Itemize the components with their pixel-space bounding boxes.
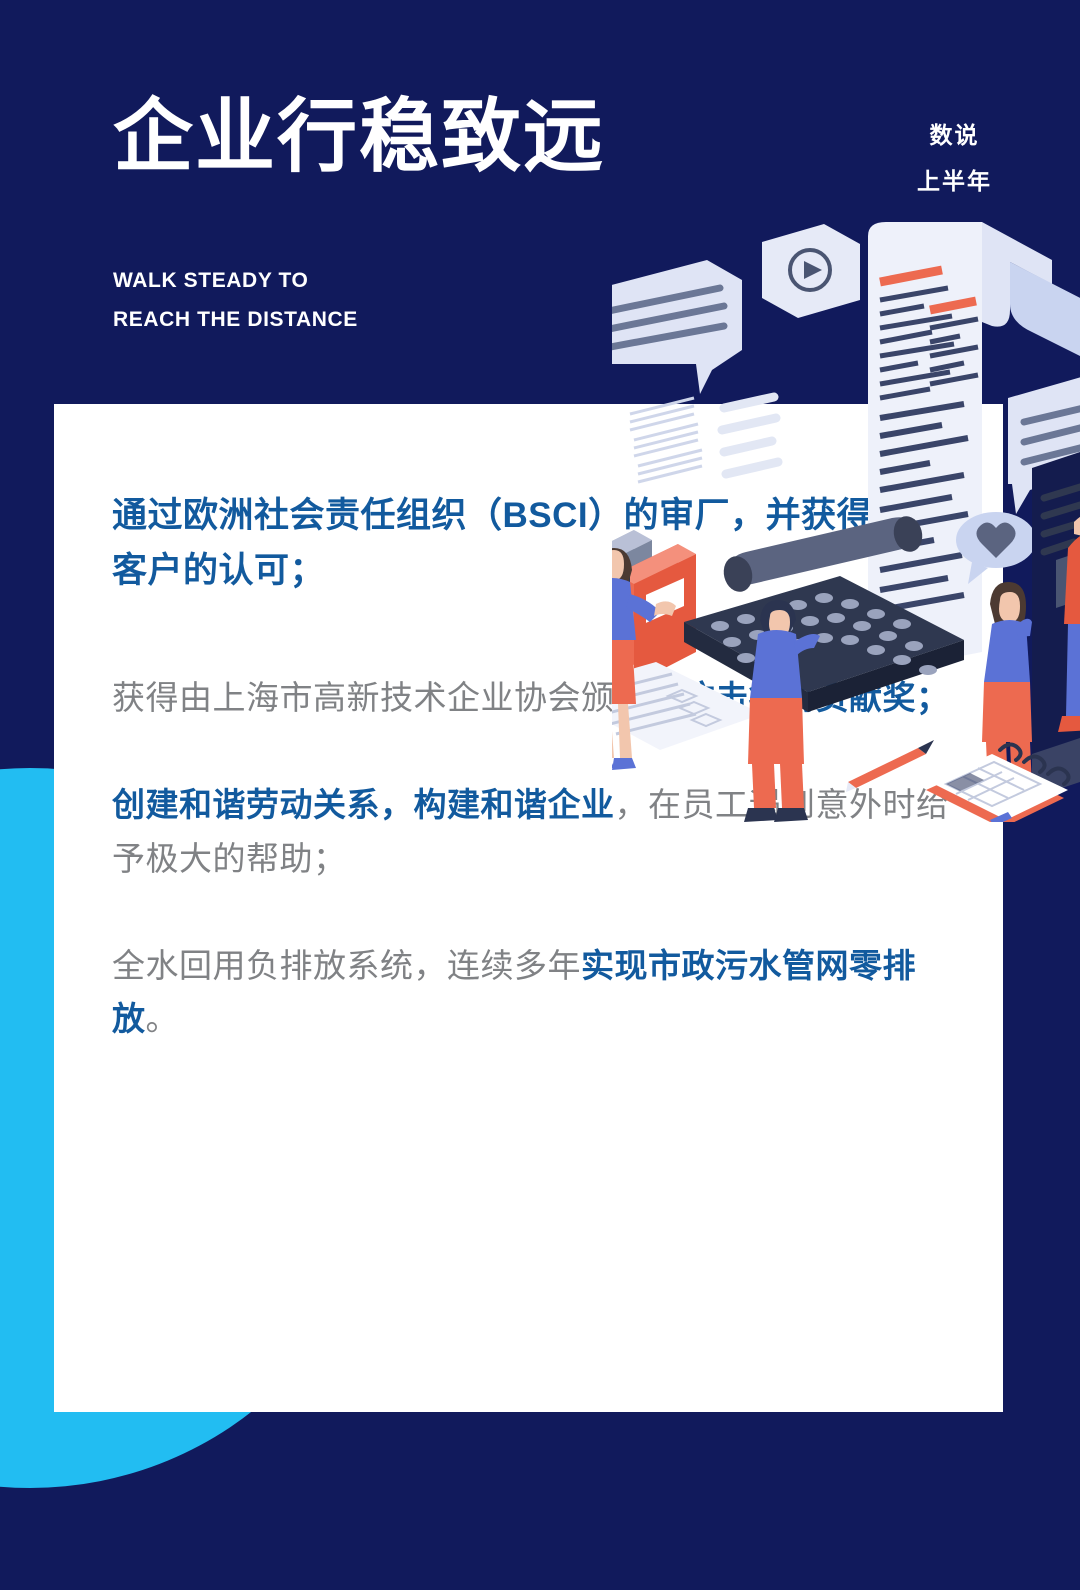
paragraph-harmony: 创建和谐劳动关系，构建和谐企业，在员工遇到意外时给予极大的帮助；: [112, 778, 972, 885]
paragraph-bsci: 通过欧洲社会责任组织（BSCI）的审厂，并获得欧洲客户的认可；: [112, 488, 972, 599]
subtitle-line-1: WALK STEADY TO: [113, 262, 358, 301]
text-segment: 创建和谐劳动关系，构建和谐企业: [112, 786, 615, 823]
subtitle-line-2: REACH THE DISTANCE: [113, 301, 358, 340]
page-title: 企业行稳致远: [113, 97, 605, 177]
person-man-panel: [1058, 514, 1080, 732]
paragraph-water: 全水回用负排放系统，连续多年实现市政污水管网零排放。: [112, 939, 972, 1046]
corner-series-tag: 数说 上半年: [917, 112, 992, 204]
text-segment: 。: [146, 1000, 180, 1037]
paragraph-award: 获得由上海市高新技术企业协会颁发的抗击疫情贡献奖；: [112, 671, 972, 724]
page-subtitle: WALK STEADY TO REACH THE DISTANCE: [113, 262, 358, 340]
corner-tag-line-2: 上半年: [917, 158, 992, 204]
achievement-list: 通过欧洲社会责任组织（BSCI）的审厂，并获得欧洲客户的认可； 获得由上海市高新…: [112, 488, 972, 1046]
content-card: 通过欧洲社会责任组织（BSCI）的审厂，并获得欧洲客户的认可； 获得由上海市高新…: [54, 404, 1003, 1412]
corner-tag-line-1: 数说: [917, 112, 992, 158]
text-segment: 全水回用负排放系统，连续多年: [112, 947, 581, 984]
dark-panel-icon: [1032, 448, 1080, 798]
text-segment: 获得由上海市高新技术企业协会颁发的: [112, 679, 682, 716]
poster-root: 企业行稳致远 WALK STEADY TO REACH THE DISTANCE…: [0, 0, 1080, 1590]
poster-header: 企业行稳致远 WALK STEADY TO REACH THE DISTANCE…: [0, 0, 1080, 404]
text-segment: 通过欧洲社会责任组织（BSCI）的审厂，并获得欧洲客户的认可；: [112, 496, 943, 590]
text-segment: 抗击疫情贡献奖；: [682, 679, 950, 716]
